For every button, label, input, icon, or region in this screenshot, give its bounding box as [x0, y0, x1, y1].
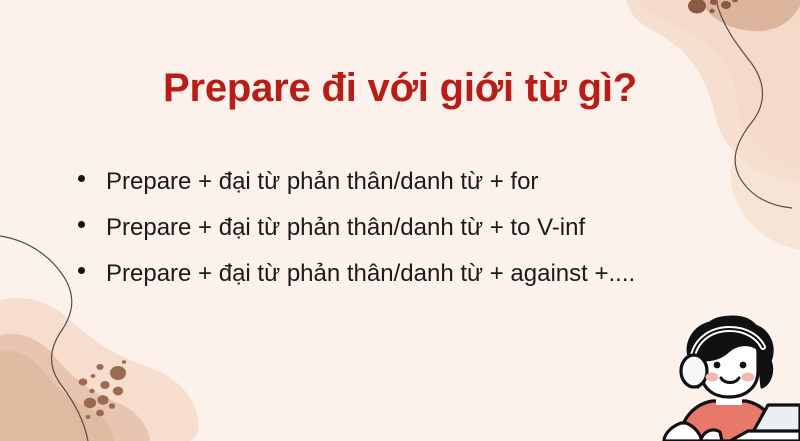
slide-canvas: Prepare đi với giới từ gì? Prepare + đại… — [0, 0, 800, 441]
headphone-earcup — [681, 355, 707, 387]
bullet-dot-icon — [78, 221, 85, 228]
cheek-right — [742, 373, 755, 382]
list-item-label: Prepare + đại từ phản thân/danh từ + to … — [106, 216, 585, 240]
page-title: Prepare đi với giới từ gì? — [0, 66, 800, 111]
formula-list: Prepare + đại từ phản thân/danh từ + for… — [78, 170, 635, 308]
list-item: Prepare + đại từ phản thân/danh từ + aga… — [78, 262, 635, 286]
eye-right — [740, 362, 747, 369]
list-item-label: Prepare + đại từ phản thân/danh từ + for — [106, 170, 538, 194]
cheek-left — [706, 373, 719, 382]
list-item-label: Prepare + đại từ phản thân/danh từ + aga… — [106, 262, 635, 286]
bullet-dot-icon — [78, 175, 85, 182]
list-item: Prepare + đại từ phản thân/danh từ + to … — [78, 216, 635, 240]
person-at-laptop-illustration — [650, 313, 800, 441]
eye-left — [714, 362, 721, 369]
bullet-dot-icon — [78, 267, 85, 274]
list-item: Prepare + đại từ phản thân/danh từ + for — [78, 170, 635, 194]
slide-content: Prepare đi với giới từ gì? Prepare + đại… — [0, 0, 800, 441]
